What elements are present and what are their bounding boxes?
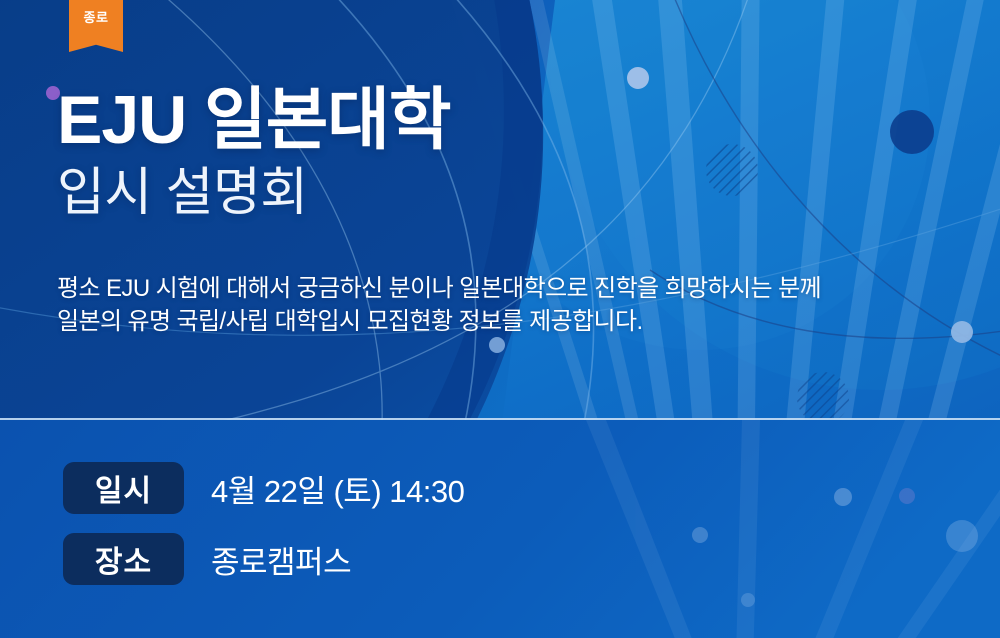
info-value-location: 종로캠퍼스 bbox=[211, 537, 351, 582]
banner-content: EJU 일본대학 입시 설명회 평소 EJU 시험에 대해서 궁금하신 분이나 … bbox=[0, 0, 1000, 638]
event-info-list: 일시 4월 22일 (토) 14:30 장소 종로캠퍼스 bbox=[63, 462, 464, 604]
campus-ribbon: 종로 bbox=[69, 0, 123, 52]
info-row-location: 장소 종로캠퍼스 bbox=[63, 533, 464, 585]
banner-description-line-1: 평소 EJU 시험에 대해서 궁금하신 분이나 일본대학으로 진학을 희망하시는… bbox=[57, 272, 977, 305]
info-label-date: 일시 bbox=[63, 462, 184, 514]
section-divider bbox=[0, 418, 1000, 420]
banner-title-sub: 입시 설명회 bbox=[57, 167, 308, 219]
banner-title-main: EJU 일본대학 bbox=[57, 86, 450, 154]
campus-ribbon-label: 종로 bbox=[84, 11, 109, 24]
banner-description: 평소 EJU 시험에 대해서 궁금하신 분이나 일본대학으로 진학을 희망하시는… bbox=[57, 272, 977, 338]
info-row-date: 일시 4월 22일 (토) 14:30 bbox=[63, 462, 464, 514]
info-label-location: 장소 bbox=[63, 533, 184, 585]
event-banner: 종로 EJU 일본대학 입시 설명회 평소 EJU 시험에 대해서 궁금하신 분… bbox=[0, 0, 1000, 638]
info-value-date: 4월 22일 (토) 14:30 bbox=[211, 466, 464, 511]
banner-description-line-2: 일본의 유명 국립/사립 대학입시 모집현황 정보를 제공합니다. bbox=[57, 305, 977, 338]
